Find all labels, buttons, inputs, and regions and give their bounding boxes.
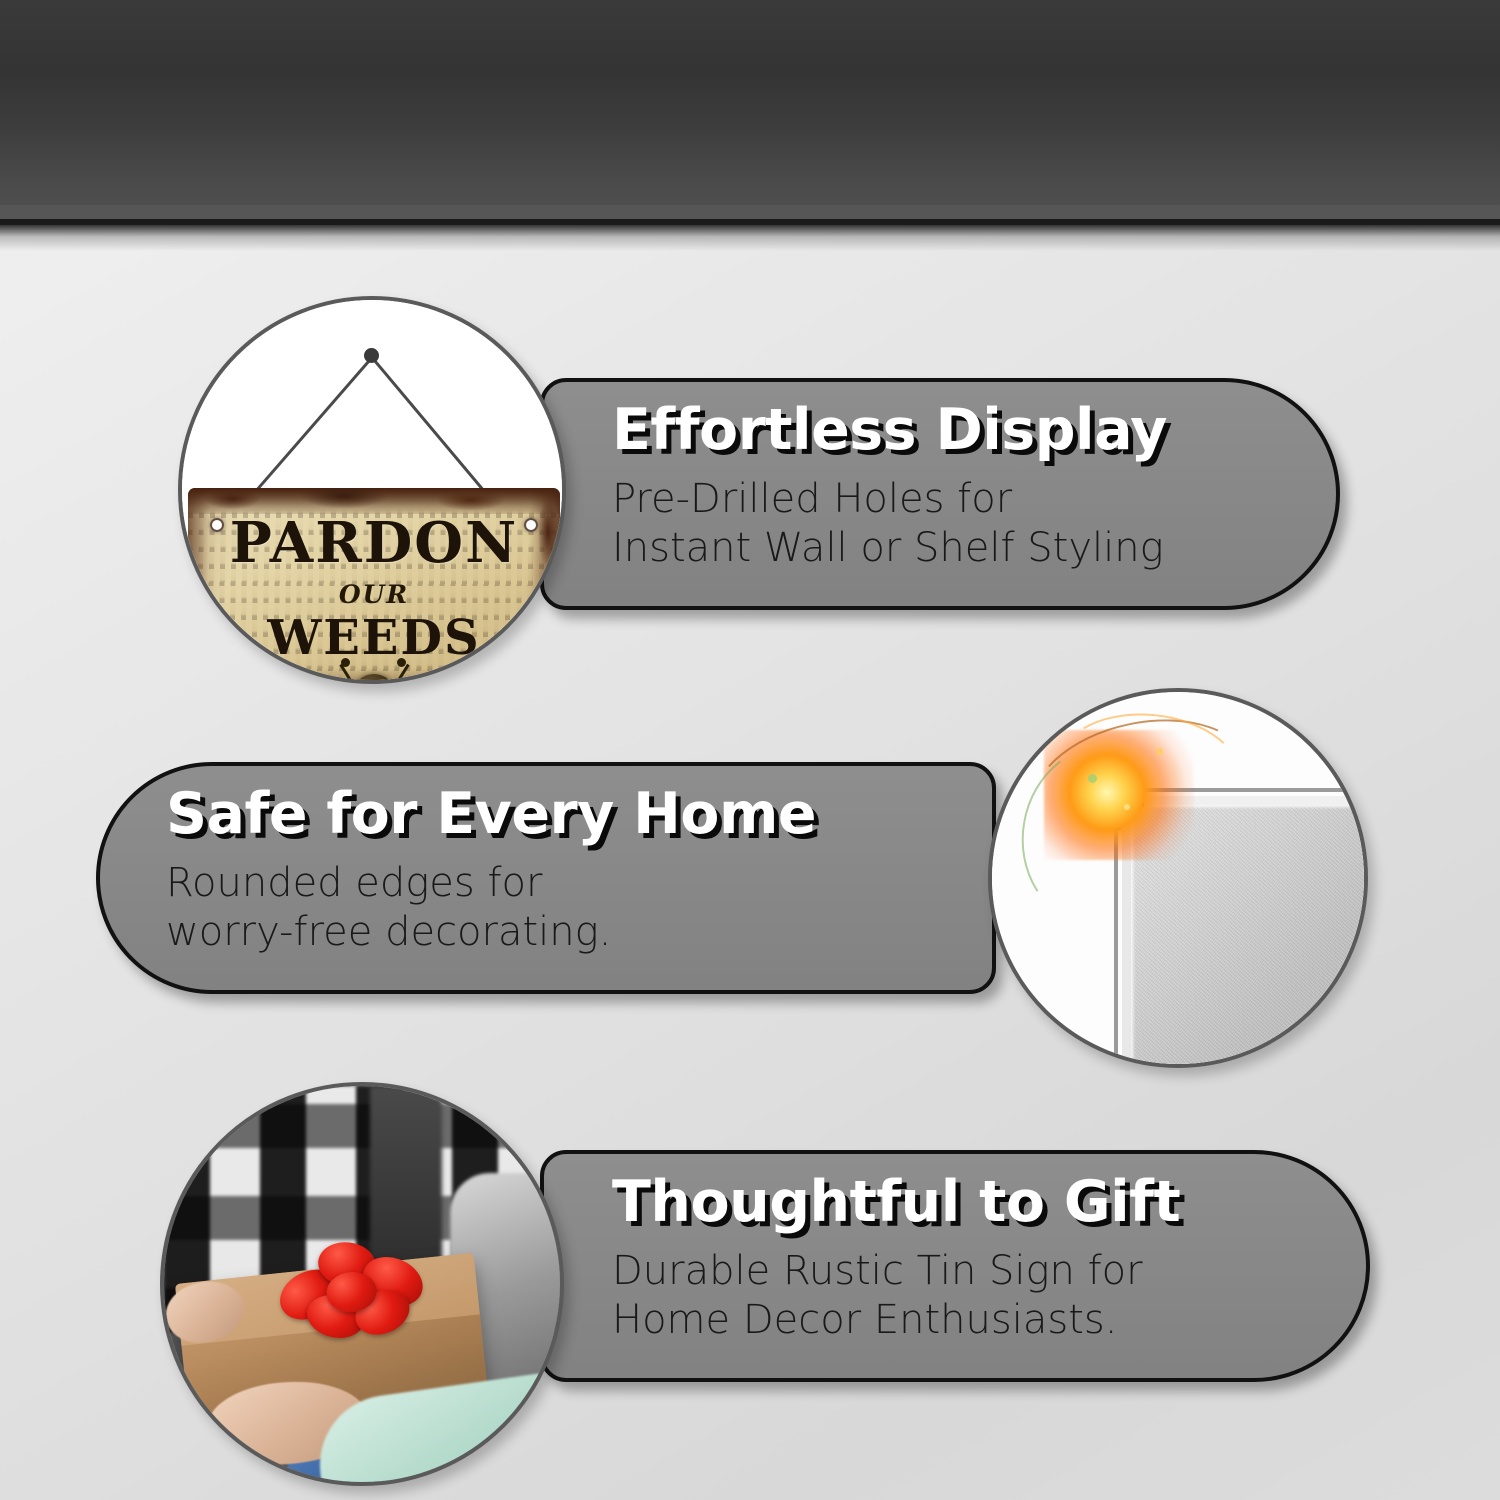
sign-text-line-1: PARDON: [188, 510, 560, 576]
red-bow-icon: [264, 1225, 441, 1347]
header-shadow-fade: [0, 225, 1500, 251]
nail-icon: [364, 348, 379, 363]
bee-antenna-tip-right: [397, 658, 406, 667]
header-accent-band: [0, 205, 1500, 219]
feature-card-safe-for-every-home: [96, 762, 996, 994]
feature-image-gift-handoff: [160, 1082, 564, 1486]
tin-sign-plate: PARDON OUR WEEDS: [188, 488, 560, 684]
product-details-infographic: PRODUCT DETAILS Thoughtful Design Rounde…: [0, 0, 1500, 1500]
pill-gloss: [544, 382, 1336, 606]
bee-body: [353, 674, 395, 684]
bee-antenna-tip-left: [341, 658, 350, 667]
feature-image-hanging-tin-sign: PARDON OUR WEEDS: [178, 296, 566, 684]
sign-text-line-3: WEEDS: [188, 610, 560, 666]
pill-gloss: [100, 766, 992, 990]
spark-particle: [1088, 774, 1097, 783]
spark-particle: [1124, 804, 1130, 810]
pill-gloss: [544, 1154, 1366, 1378]
bee-antenna-left: [339, 664, 357, 684]
spark-particle: [1156, 748, 1163, 755]
feature-card-effortless-display: [540, 378, 1340, 610]
feature-image-rounded-metal-corner: [988, 688, 1368, 1068]
header-banner: [0, 0, 1500, 205]
feature-card-thoughtful-to-gift: [540, 1150, 1370, 1382]
sign-text-line-2: OUR: [188, 580, 560, 609]
bee-icon: [335, 660, 413, 684]
